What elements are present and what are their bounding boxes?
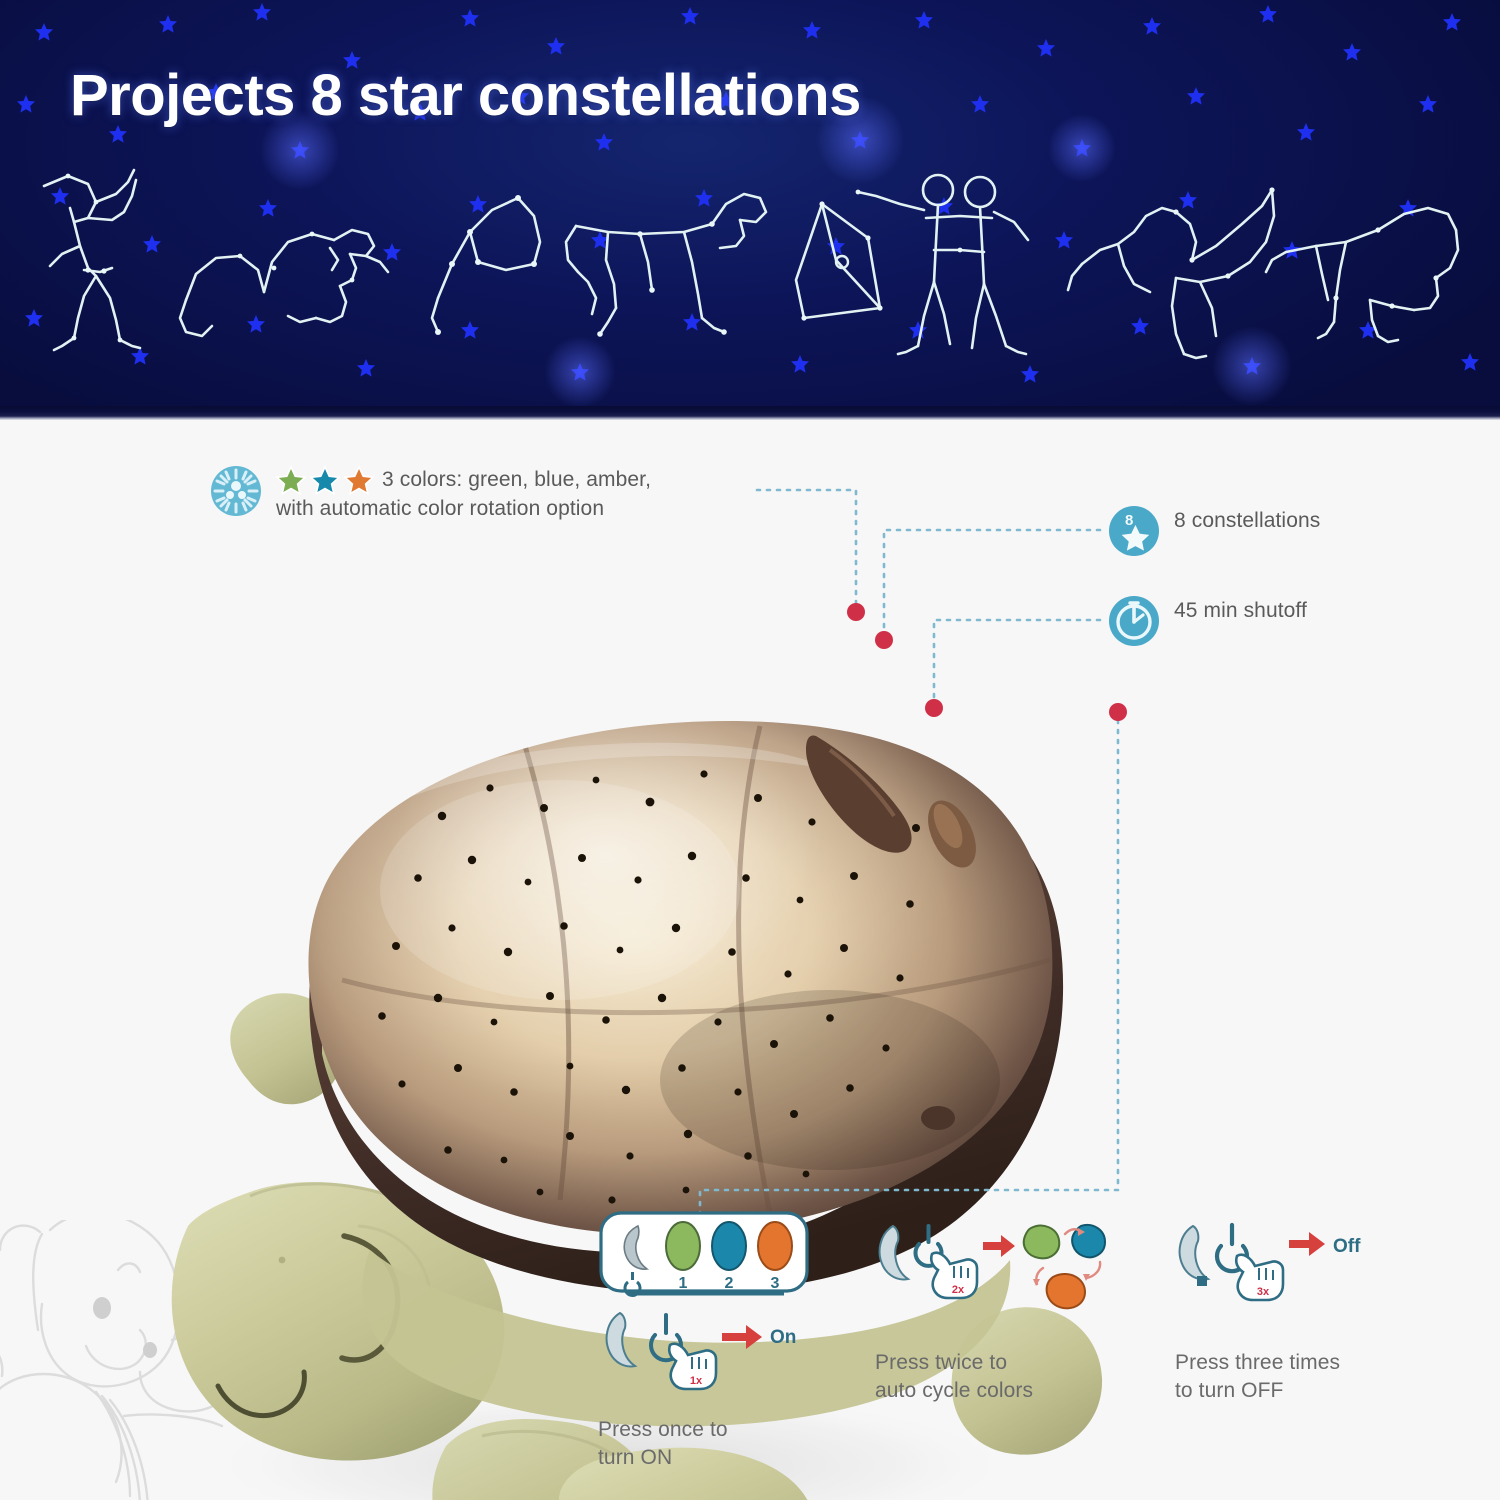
step-press-three-times: 3x Off Press three times to turn OFF (1175, 1220, 1395, 1405)
step-press-twice: 2x (875, 1220, 1105, 1405)
star-amber-icon (344, 465, 374, 495)
callout-shutoff: 45 min shutoff (1108, 595, 1307, 647)
press-count: 2x (952, 1284, 965, 1296)
callout-colors-line2: with automatic color rotation option (276, 495, 651, 523)
constellation-ursa-major-bear (1266, 208, 1458, 342)
svg-text:2: 2 (725, 1275, 734, 1292)
callout-constellations: 8 8 constellations (1108, 505, 1320, 557)
constellation-pegasus (1068, 187, 1275, 358)
hand-pointer-icon: 1x (669, 1344, 716, 1389)
header-starfield-band: Projects 8 star constellations (0, 0, 1500, 420)
step-press-three-times-caption: Press three times to turn OFF (1175, 1349, 1395, 1405)
star-green-icon (276, 465, 306, 495)
hand-pointer-icon: 2x (931, 1253, 977, 1298)
press-three-times-diagram: 3x Off (1175, 1220, 1397, 1338)
arrow-right-icon (722, 1325, 762, 1349)
moon-icon (1180, 1226, 1208, 1279)
constellation-cepheus (796, 201, 883, 320)
star-blue-icon (310, 465, 340, 495)
step-press-once-caption: Press once to turn ON (598, 1416, 808, 1472)
svg-text:1: 1 (679, 1275, 688, 1292)
control-panel: 1 2 3 (598, 1210, 810, 1306)
callout-colors-text: 3 colors: green, blue, amber, with autom… (276, 465, 651, 523)
callout-shutoff-text: 45 min shutoff (1174, 595, 1307, 625)
hand-pointer-icon: 3x (1236, 1255, 1283, 1300)
press-once-diagram: 1x On (598, 1307, 810, 1397)
constellation-gemini (856, 175, 1028, 354)
page-title: Projects 8 star constellations (70, 62, 861, 129)
result-label: Off (1333, 1236, 1361, 1257)
press-count: 1x (690, 1375, 703, 1387)
off-indicator-square (1197, 1276, 1207, 1286)
main-content-area: 3 colors: green, blue, amber, with autom… (0, 420, 1500, 1500)
callout-colors-line1: 3 colors: green, blue, amber, (382, 466, 651, 494)
badge-number: 8 (1125, 512, 1133, 529)
svg-text:3: 3 (771, 1275, 780, 1292)
constellation-ursa-major-dipper (432, 195, 540, 335)
color-cycle-cluster (1024, 1225, 1105, 1308)
arrow-right-icon (1289, 1232, 1325, 1256)
constellation-draco (180, 230, 388, 336)
moon-icon (607, 1313, 635, 1366)
light-rays-icon (210, 465, 262, 517)
press-count: 3x (1257, 1286, 1270, 1298)
arrow-right-icon (983, 1235, 1015, 1257)
constellation-orion (44, 170, 140, 350)
callout-colors: 3 colors: green, blue, amber, with autom… (210, 465, 770, 523)
eight-star-badge-icon: 8 (1108, 505, 1160, 557)
infographic-page: Projects 8 star constellations (0, 0, 1500, 1500)
step-press-twice-caption: Press twice to auto cycle colors (875, 1349, 1105, 1405)
moon-icon (880, 1226, 908, 1279)
constellation-canis-major (566, 194, 766, 337)
press-twice-diagram: 2x (875, 1220, 1107, 1338)
header-bottom-edge (0, 406, 1500, 420)
timer-power-icon (1108, 595, 1160, 647)
step-press-once: 1 2 3 (598, 1210, 808, 1472)
constellation-row (0, 150, 1500, 375)
result-label: On (770, 1327, 796, 1348)
callout-constellations-text: 8 constellations (1174, 505, 1320, 535)
